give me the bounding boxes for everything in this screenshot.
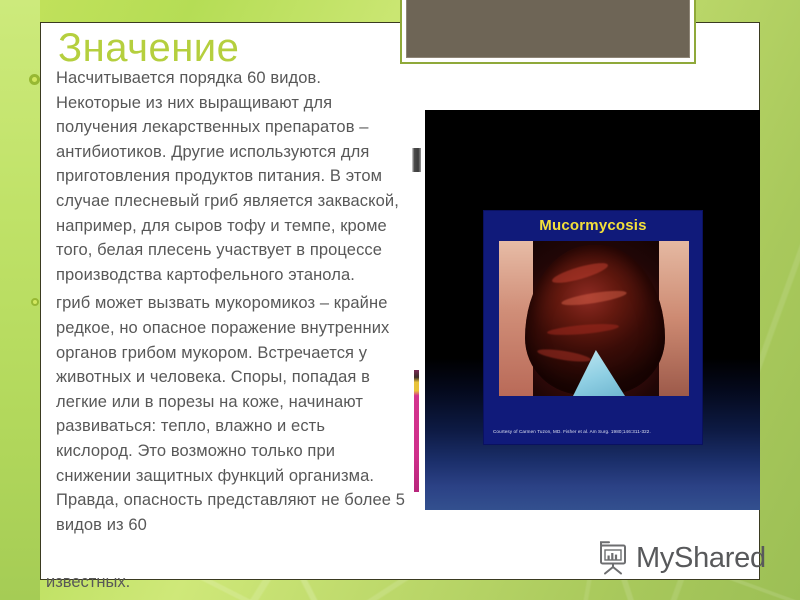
list-item-text: Насчитывается порядка 60 видов. Некоторы… — [56, 66, 406, 287]
ring-bullet-icon — [31, 298, 39, 306]
top-right-image-frame — [400, 0, 696, 64]
overflow-text-line: известных. — [46, 570, 130, 595]
ring-bullet-icon — [29, 74, 40, 85]
myshared-watermark: MyShared — [596, 540, 766, 576]
watermark-label: MyShared — [636, 543, 766, 573]
list-item: гриб может вызвать мукоромикоз – крайне … — [46, 291, 406, 537]
body-text-column: Насчитывается порядка 60 видов. Некоторы… — [46, 66, 406, 541]
photo-caption-title: Mucormycosis — [484, 217, 702, 234]
list-item-text: гриб может вызвать мукоромикоз – крайне … — [56, 291, 406, 537]
edge-artifact-grey-sliver — [412, 148, 421, 172]
presentation-slide: Значение Насчитывается порядка 60 видов.… — [0, 0, 800, 600]
grey-photo-placeholder — [406, 0, 690, 58]
list-item: Насчитывается порядка 60 видов. Некоторы… — [46, 66, 406, 287]
photo-blue-panel: Mucormycosis Courtesy of Carmen Tuzon, M… — [483, 210, 703, 445]
page-title: Значение — [58, 26, 239, 70]
lesion-photograph — [499, 241, 689, 396]
photo-credit-text: Courtesy of Carmen Tuzon, MD. Fisher et … — [493, 429, 696, 435]
edge-artifact-magenta-sliver — [414, 370, 419, 492]
mucormycosis-clinical-photo: Mucormycosis Courtesy of Carmen Tuzon, M… — [425, 110, 760, 510]
presentation-chart-icon — [596, 540, 630, 576]
